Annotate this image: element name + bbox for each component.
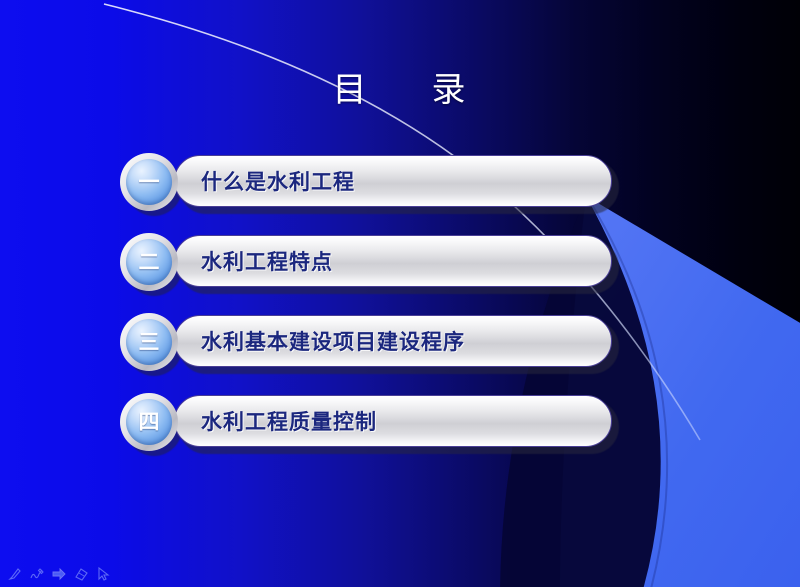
badge-number: 三 [139,332,160,353]
eraser-icon[interactable] [72,565,90,583]
annotation-toolbar[interactable] [6,565,112,583]
list-item[interactable]: 水利基本建设项目建设程序 三 [0,310,800,390]
badge-circle: 三 [126,319,172,365]
contents-pill[interactable]: 水利基本建设项目建设程序 [174,315,612,367]
badge-circle: 二 [126,239,172,285]
highlighter-icon[interactable] [28,565,46,583]
badge-number: 四 [139,412,160,433]
contents-pill[interactable]: 什么是水利工程 [174,155,612,207]
badge-number: 一 [139,172,160,193]
list-item[interactable]: 什么是水利工程 一 [0,150,800,230]
contents-pill[interactable]: 水利工程特点 [174,235,612,287]
pen-icon[interactable] [6,565,24,583]
badge-number: 二 [139,252,160,273]
contents-number-badge[interactable]: 二 [120,233,178,291]
contents-item-label: 水利工程特点 [201,246,333,276]
contents-item-label: 什么是水利工程 [201,166,355,196]
contents-item-label: 水利基本建设项目建设程序 [201,326,465,356]
table-of-contents: 什么是水利工程 一 水利工程特点 二 水利基 [0,150,800,470]
list-item[interactable]: 水利工程质量控制 四 [0,390,800,470]
presentation-slide: 目 录 什么是水利工程 一 水利工程特点 二 [0,0,800,587]
cursor-icon[interactable] [94,565,112,583]
badge-circle: 四 [126,399,172,445]
contents-number-badge[interactable]: 四 [120,393,178,451]
badge-circle: 一 [126,159,172,205]
contents-item-label: 水利工程质量控制 [201,406,377,436]
contents-pill[interactable]: 水利工程质量控制 [174,395,612,447]
contents-number-badge[interactable]: 三 [120,313,178,371]
list-item[interactable]: 水利工程特点 二 [0,230,800,310]
contents-number-badge[interactable]: 一 [120,153,178,211]
arrow-pointer-icon[interactable] [50,565,68,583]
page-title: 目 录 [0,62,800,111]
